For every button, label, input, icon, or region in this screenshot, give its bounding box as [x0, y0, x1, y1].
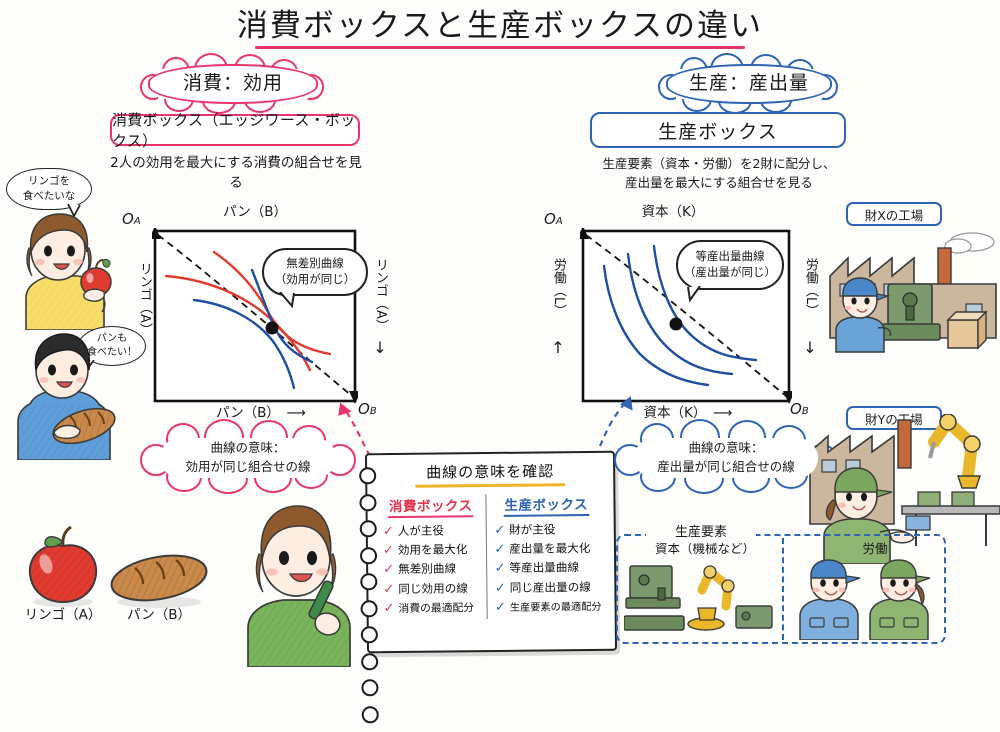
- checklist-item: ✓生産要素の最適配分: [495, 598, 602, 615]
- checklist-item: ✓同じ産出量の線: [495, 579, 602, 596]
- illustration-girl-apple: [8, 208, 120, 330]
- production-left-axis-arrow: ↑: [548, 338, 568, 357]
- production-bottom-axis-label: 資本（K） ⟶: [620, 404, 756, 424]
- production-right-axis-label: 労働（L）: [800, 258, 820, 321]
- comparison-notepad: 曲線の意味を確認 消費ボックス ✓人が主役 ✓効用を最大化 ✓無差別曲線 ✓同じ…: [365, 451, 617, 654]
- checklist-item: ✓人が主役: [383, 522, 482, 539]
- consumption-heading-cloud: 消費：効用: [148, 64, 318, 104]
- consumption-right-axis-arrow: ↓: [370, 338, 390, 357]
- consumption-top-axis-label: パン（B）: [200, 203, 310, 223]
- production-callout: 等産出量曲線 （産出量が同じ）: [676, 240, 784, 290]
- production-meaning-line2: 産出量が同じ組合せの線: [657, 458, 795, 477]
- consumption-description: 2人の効用を最大にする消費の組合せを見る: [106, 154, 366, 193]
- consumption-meaning-line1: 曲線の意味：: [210, 439, 285, 458]
- illustration-capital-machines: [624, 558, 776, 638]
- checklist-item: ✓効用を最大化: [383, 541, 482, 558]
- bread-caption: パン（B）: [110, 606, 208, 626]
- notepad-column-consumption: 消費ボックス ✓人が主役 ✓効用を最大化 ✓無差別曲線 ✓同じ効用の線 ✓消費の…: [375, 494, 488, 620]
- notepad-col-head-consumption: 消費ボックス: [380, 494, 481, 515]
- production-origin-a: OA: [544, 210, 563, 228]
- production-right-axis-arrow: ↓: [800, 338, 820, 357]
- production-heading-text: 生産：産出量: [689, 71, 809, 97]
- checklist-item: ✓消費の最適配分: [384, 599, 483, 616]
- illustration-boy-bread: [8, 330, 124, 460]
- consumption-meaning-line2: 効用が同じ組合せの線: [185, 458, 310, 477]
- illustration-girl-pen: [232, 500, 362, 667]
- production-factors-divider: [782, 538, 784, 640]
- production-top-axis-label: 資本（K）: [618, 203, 728, 223]
- production-meaning-line1: 曲線の意味：: [688, 439, 763, 458]
- illustration-labor-workers: [796, 556, 936, 640]
- notepad-title-underline: [415, 483, 565, 487]
- notepad-spiral: [359, 467, 380, 732]
- consumption-box-label: 消費ボックス（エッジワース・ボックス）: [110, 114, 360, 146]
- consumption-origin-a: OA: [122, 210, 141, 228]
- production-factors-group-label: 生産要素: [646, 524, 756, 543]
- production-callout-tail: [684, 286, 706, 308]
- consumption-callout-tail: [278, 292, 300, 314]
- consumption-meaning-cloud: 曲線の意味： 効用が同じ組合せの線: [150, 432, 346, 484]
- consumption-heading-text: 消費：効用: [183, 71, 283, 97]
- checklist-item: ✓財が主役: [494, 521, 601, 538]
- apple-caption: リンゴ（A）: [14, 606, 112, 626]
- title-underline: [255, 46, 745, 49]
- production-meaning-cloud: 曲線の意味： 産出量が同じ組合せの線: [624, 432, 828, 484]
- production-left-axis-label: 労働（L）: [548, 258, 568, 321]
- illustration-bread: [104, 540, 214, 612]
- consumption-right-axis-label: リンゴ（A）: [370, 258, 390, 336]
- illustration-factory-x: [826, 228, 1000, 362]
- checklist-item: ✓等産出量曲線: [494, 559, 601, 576]
- production-heading-cloud: 生産：産出量: [666, 64, 832, 104]
- illustration-apple: [18, 524, 108, 612]
- notepad-title: 曲線の意味を確認: [367, 453, 613, 484]
- checklist-item: ✓産出量を最大化: [494, 540, 601, 557]
- speech-bubble-girl: リンゴを 食べたいな: [6, 168, 90, 208]
- production-box-label: 生産ボックス: [590, 112, 846, 148]
- page-title: 消費ボックスと生産ボックスの違い: [0, 4, 1000, 49]
- consumption-callout: 無差別曲線 （効用が同じ）: [262, 248, 368, 296]
- notepad-column-production: 生産ボックス ✓財が主役 ✓産出量を最大化 ✓等産出量曲線 ✓同じ産出量の線 ✓…: [487, 492, 607, 618]
- notepad-col-head-production: 生産ボックス: [492, 492, 601, 513]
- checklist-item: ✓無差別曲線: [383, 561, 482, 578]
- factory-x-label: 財Xの工場: [846, 202, 942, 226]
- checklist-item: ✓同じ効用の線: [383, 580, 482, 597]
- production-description: 生産要素（資本・労働）を2財に配分し、 産出量を最大にする組合せを見る: [588, 155, 850, 193]
